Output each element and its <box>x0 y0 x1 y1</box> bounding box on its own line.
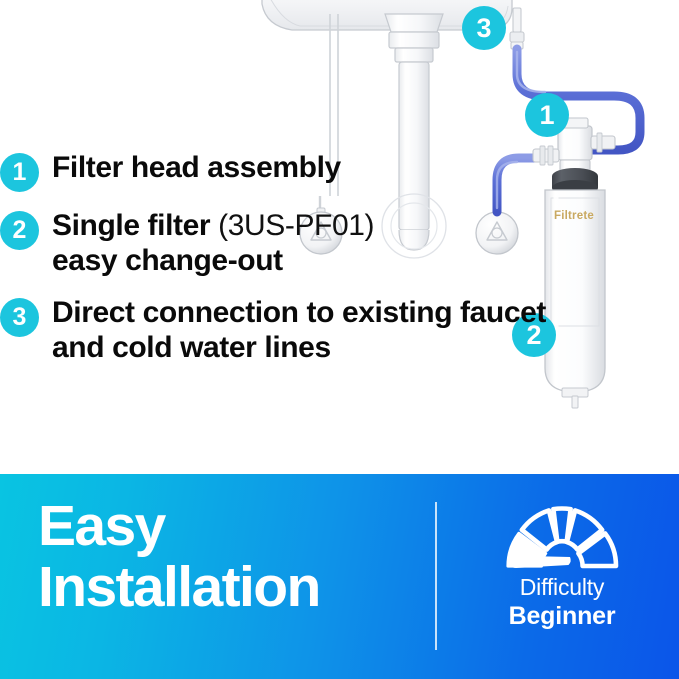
feature-item-2: 2 Single filter (3US-PF01) easy change-o… <box>0 208 600 279</box>
gauge-segment-5 <box>578 533 616 566</box>
gauge-icon <box>500 498 624 572</box>
feature-label-1: Filter head assembly <box>52 150 341 185</box>
product-infographic: Filtrete 3 1 2 1 Filter head assembly 2 … <box>0 0 679 679</box>
faucet-supply-stub <box>510 8 524 49</box>
feature-3-bold-text: Direct connection to existing faucet and… <box>52 296 546 364</box>
feature-2-bold-text-line2: easy change-out <box>52 244 283 277</box>
feature-label-3: Direct connection to existing faucet and… <box>52 295 600 366</box>
banner-headline-line1: Easy <box>38 494 165 558</box>
gauge-needle <box>510 556 571 568</box>
difficulty-value: Beginner <box>478 602 646 631</box>
feature-label-2: Single filter (3US-PF01) easy change-out <box>52 208 374 279</box>
diagram-callout-3[interactable]: 3 <box>462 6 506 50</box>
feature-list: 1 Filter head assembly 2 Single filter (… <box>0 150 600 382</box>
feature-badge-2: 2 <box>0 211 39 250</box>
difficulty-label: Difficulty <box>478 574 646 601</box>
feature-item-3: 3 Direct connection to existing faucet a… <box>0 295 600 366</box>
banner-headline-line2: Installation <box>38 555 320 619</box>
banner-divider <box>435 502 437 650</box>
feature-2-bold-text: Single filter <box>52 209 210 242</box>
feature-1-bold-text: Filter head assembly <box>52 151 341 184</box>
banner-headline: Easy Installation <box>38 496 320 618</box>
difficulty-block: Difficulty Beginner <box>478 498 646 631</box>
feature-2-model-number: (3US-PF01) <box>218 209 374 242</box>
easy-installation-banner: Easy Installation <box>0 474 679 679</box>
diagram-callout-1[interactable]: 1 <box>525 93 569 137</box>
feature-badge-3: 3 <box>0 298 39 337</box>
gauge-segment-4 <box>567 510 602 549</box>
feature-badge-1: 1 <box>0 153 39 192</box>
feature-item-1: 1 Filter head assembly <box>0 150 600 192</box>
